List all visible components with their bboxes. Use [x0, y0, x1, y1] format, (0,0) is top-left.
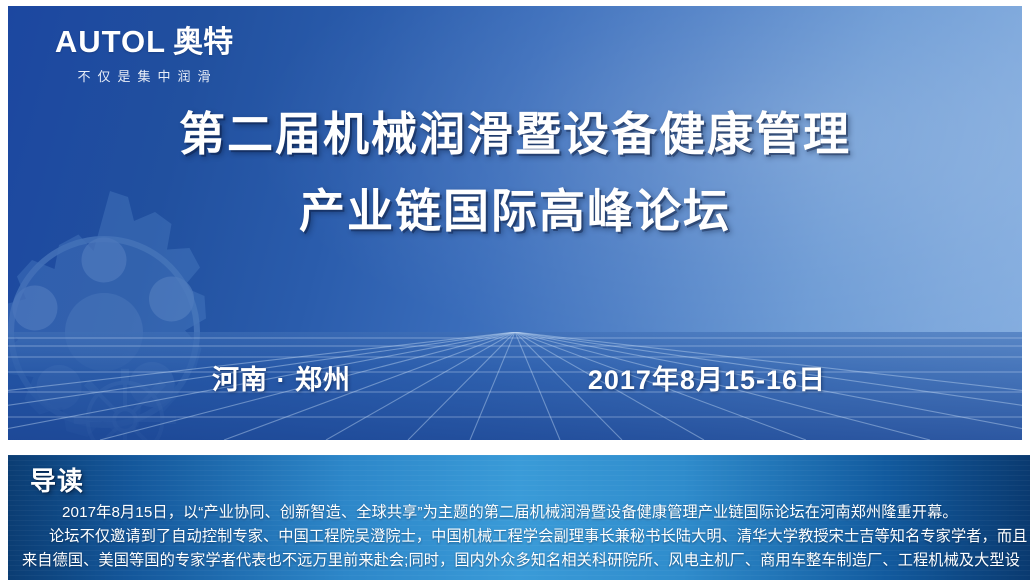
event-date: 2017年8月15-16日 — [588, 358, 826, 397]
lead-in-panel: 导读 2017年8月15日，以“产业协同、创新智造、全球共享”为主题的第二届机械… — [8, 455, 1030, 580]
logo-wordmark: AUTOL奥特 — [24, 26, 264, 59]
event-title-line-1: 第二届机械润滑暨设备健康管理 — [8, 104, 1022, 165]
logo-tagline: 不仅是集中润滑 — [24, 66, 264, 85]
event-venue: 河南 · 郑州 — [212, 358, 351, 397]
event-title-line-2: 产业链国际高峰论坛 — [8, 181, 1022, 242]
lead-paragraph: 2017年8月15日，以“产业协同、创新智造、全球共享”为主题的第二届机械润滑暨… — [22, 501, 1016, 525]
lead-in-heading: 导读 — [30, 461, 1030, 498]
event-meta-row: 河南 · 郑州 2017年8月15-16日 — [8, 358, 1022, 397]
lead-paragraph: 论坛不仅邀请到了自动控制专家、中国工程院吴澄院士，中国机械工程学会副理事长兼秘书… — [22, 525, 1016, 549]
lead-paragraph: 来自德国、美国等国的专家学者代表也不远万里前来赴会;同时，国内外众多知名相关科研… — [22, 549, 1016, 573]
event-hero-banner: AUTOL奥特 不仅是集中润滑 第二届机械润滑暨设备健康管理 产业链国际高峰论坛… — [8, 6, 1022, 440]
lead-in-body: 2017年8月15日，以“产业协同、创新智造、全球共享”为主题的第二届机械润滑暨… — [22, 501, 1016, 573]
event-title: 第二届机械润滑暨设备健康管理 产业链国际高峰论坛 — [8, 104, 1022, 241]
logo-brand-latin: AUTOL — [55, 24, 166, 59]
article-page: AUTOL奥特 不仅是集中润滑 第二届机械润滑暨设备健康管理 产业链国际高峰论坛… — [0, 0, 1030, 580]
autol-logo: AUTOL奥特 不仅是集中润滑 — [24, 26, 264, 85]
logo-brand-chinese: 奥特 — [173, 26, 233, 59]
